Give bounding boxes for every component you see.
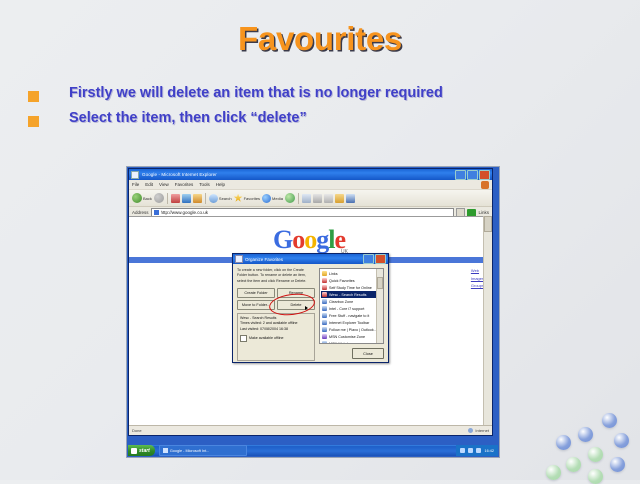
start-button[interactable]: start: [128, 445, 155, 456]
list-item-label: Wesc - Search Results: [329, 293, 366, 297]
search-icon: [209, 194, 218, 203]
browser-icon: [322, 299, 327, 304]
decorative-bubbles: [510, 405, 640, 480]
ie-brand-logo-icon: [481, 181, 489, 189]
item-info-box: Wesc - Search Results Times visited: 2 a…: [237, 313, 315, 361]
info-line-2: Last visited: 07/08/2004 16:38: [240, 327, 312, 332]
dialog-body: To create a new folder, click on the Cre…: [233, 264, 388, 348]
list-item[interactable]: Clearbox Zone: [321, 298, 376, 305]
browser-icon: [322, 320, 327, 325]
dialog-title: Organize Favorites: [245, 257, 363, 262]
page-scrollbar[interactable]: [483, 216, 492, 426]
toolbar-separator: [167, 193, 168, 204]
windows-flag-icon: [131, 448, 137, 454]
help-icon[interactable]: [363, 254, 374, 264]
create-folder-button[interactable]: Create Folder: [237, 288, 275, 298]
minimize-icon[interactable]: [455, 170, 466, 180]
globe-icon: [468, 428, 473, 433]
browser-icon: [322, 341, 327, 344]
scrollbar-thumb[interactable]: [377, 277, 383, 289]
bubble-4: [614, 433, 629, 448]
address-label: Address: [132, 210, 149, 215]
move-to-folder-button[interactable]: Move to Folder...: [237, 300, 275, 310]
page-icon: [154, 210, 159, 215]
list-item[interactable]: Self Study Time for Online: [321, 284, 376, 291]
close-button[interactable]: Close: [352, 348, 384, 359]
menu-bar: File Edit View Favorites Tools Help: [129, 180, 492, 190]
checkbox-label: Make available offline: [249, 336, 284, 341]
dialog-window-controls: [363, 254, 386, 264]
back-arrow-icon: [132, 193, 142, 203]
list-item[interactable]: Free Stuff - navigate to it: [321, 312, 376, 319]
taskbar-item-label: Google - Microsoft Int...: [170, 449, 209, 453]
status-text: Done: [132, 428, 142, 433]
start-label: start: [139, 448, 150, 454]
organize-favorites-dialog: Organize Favorites To create a new folde…: [232, 253, 389, 363]
list-item-label: Quick Favorites: [329, 279, 355, 283]
bubble-8: [546, 465, 561, 480]
back-label: Back: [143, 196, 152, 201]
favorites-label: Favorites: [244, 196, 260, 201]
bubble-7: [610, 457, 625, 472]
browser-icon: [322, 306, 327, 311]
make-available-offline-checkbox[interactable]: Make available offline: [240, 335, 312, 342]
status-zone: Internet: [475, 428, 489, 433]
menu-item-edit[interactable]: Edit: [145, 182, 153, 187]
edit-icon[interactable]: [324, 194, 333, 203]
google-logo-text: Google: [273, 225, 345, 255]
bubble-9: [588, 469, 603, 484]
list-item[interactable]: Intel - Core i7 support: [321, 305, 376, 312]
forward-arrow-icon[interactable]: [154, 193, 164, 203]
search-label: Search: [219, 196, 232, 201]
bullet-marker-icon: [28, 116, 39, 127]
favorites-list-items: Links Quick Favorites Self Study Time fo…: [320, 269, 377, 343]
rename-button[interactable]: Rename: [277, 288, 315, 298]
menu-item-view[interactable]: View: [159, 182, 169, 187]
menu-item-favorites[interactable]: Favorites: [175, 182, 194, 187]
back-button[interactable]: Back: [132, 193, 152, 203]
bullet-list: Firstly we will delete an item that is n…: [28, 85, 628, 135]
media-label: Media: [272, 196, 283, 201]
browser-icon: [322, 292, 327, 297]
list-item[interactable]: Quick Favorites: [321, 277, 376, 284]
browser-icon: [322, 334, 327, 339]
embedded-screenshot: Google - Microsoft Internet Explorer Fil…: [127, 167, 499, 457]
media-icon: [262, 194, 271, 203]
browser-toolbar: Back Search Favorites Media: [129, 190, 492, 207]
status-zone-area: Internet: [468, 428, 489, 433]
window-controls: [455, 170, 490, 180]
folder-icon: [322, 271, 327, 276]
list-item: Firstly we will delete an item that is n…: [28, 85, 628, 102]
browser-icon: [322, 278, 327, 283]
history-icon[interactable]: [285, 193, 295, 203]
checkbox-icon: [240, 335, 247, 342]
bubble-5: [588, 447, 603, 462]
list-item: Select the item, then click “delete”: [28, 110, 628, 127]
menu-item-file[interactable]: File: [132, 182, 139, 187]
address-value: http://www.google.co.uk: [161, 210, 209, 215]
mouse-cursor-icon: [305, 306, 308, 310]
browser-icon: [322, 313, 327, 318]
page-title: Favourites: [0, 20, 640, 58]
favorites-button[interactable]: Favorites: [234, 194, 260, 203]
menu-item-help[interactable]: Help: [216, 182, 225, 187]
network-icon[interactable]: [460, 448, 465, 453]
list-item[interactable]: MSN Web Images: [321, 340, 376, 344]
list-item[interactable]: Internet Explorer Toolbar: [321, 319, 376, 326]
taskbar-item[interactable]: Google - Microsoft Int...: [159, 445, 247, 456]
dialog-title-bar: Organize Favorites: [233, 254, 388, 264]
list-item-label: Internet Explorer Toolbar: [329, 321, 369, 325]
favorites-list[interactable]: Links Quick Favorites Self Study Time fo…: [319, 268, 384, 344]
dialog-action-buttons: Create Folder Rename Move to Folder... D…: [237, 288, 315, 310]
google-logo: GoogleUK: [129, 225, 492, 255]
star-icon: [234, 194, 243, 203]
stop-icon[interactable]: [171, 194, 180, 203]
list-item-label: Self Study Time for Online: [329, 286, 372, 290]
print-icon[interactable]: [313, 194, 322, 203]
window-title: Google - Microsoft Internet Explorer: [142, 172, 455, 177]
ie-logo-icon: [131, 171, 139, 179]
media-button[interactable]: Media: [262, 194, 283, 203]
close-icon[interactable]: [479, 170, 490, 180]
favorites-scrollbar[interactable]: [376, 269, 383, 343]
maximize-icon[interactable]: [467, 170, 478, 180]
bubble-1: [602, 413, 617, 428]
bullet-text: Select the item, then click “delete”: [69, 110, 307, 127]
window-title-bar: Google - Microsoft Internet Explorer: [129, 169, 492, 180]
browser-icon: [322, 327, 327, 332]
dialog-description: To create a new folder, click on the Cre…: [237, 268, 315, 284]
scrollbar-thumb[interactable]: [484, 216, 492, 232]
list-item-selected[interactable]: Wesc - Search Results: [321, 291, 376, 298]
status-bar: Done Internet: [129, 425, 492, 435]
bubble-6: [566, 457, 581, 472]
delete-button[interactable]: Delete: [277, 300, 315, 310]
volume-icon[interactable]: [468, 448, 473, 453]
mail-icon[interactable]: [302, 194, 311, 203]
list-item-label: Clearbox Zone: [329, 300, 353, 304]
system-tray: 16:42: [456, 445, 498, 456]
bubble-2: [578, 427, 593, 442]
windows-taskbar: start Google - Microsoft Int... 16:42: [128, 445, 498, 456]
dialog-left-pane: To create a new folder, click on the Cre…: [237, 268, 315, 344]
ie-logo-icon: [163, 448, 168, 453]
links-label[interactable]: Links: [478, 210, 489, 215]
home-icon[interactable]: [193, 194, 202, 203]
list-item-label: MSN Web Images: [329, 342, 359, 345]
refresh-icon[interactable]: [182, 194, 191, 203]
list-item-label: MSN Customise Zone: [329, 335, 365, 339]
bubble-3: [556, 435, 571, 450]
search-button[interactable]: Search: [209, 194, 232, 203]
toolbar-separator: [298, 193, 299, 204]
dialog-icon: [235, 255, 243, 263]
list-item-label: Links: [329, 272, 338, 276]
dialog-footer: Close: [352, 348, 384, 359]
tray-time: 16:42: [484, 449, 494, 453]
menu-item-tools[interactable]: Tools: [199, 182, 210, 187]
list-item[interactable]: Follow me | Plaxo | Outlook...: [321, 326, 376, 333]
list-item[interactable]: Links: [321, 270, 376, 277]
browser-icon: [322, 285, 327, 290]
bullet-text: Firstly we will delete an item that is n…: [69, 85, 443, 102]
list-item-label: Free Stuff - navigate to it: [329, 314, 369, 318]
list-item-label: Intel - Core i7 support: [329, 307, 364, 311]
shield-icon[interactable]: [476, 448, 481, 453]
list-item[interactable]: MSN Customise Zone: [321, 333, 376, 340]
discuss-icon[interactable]: [335, 194, 344, 203]
dialog-close-icon[interactable]: [375, 254, 386, 264]
messenger-icon[interactable]: [346, 194, 355, 203]
bullet-marker-icon: [28, 91, 39, 102]
toolbar-separator: [205, 193, 206, 204]
list-item-label: Follow me | Plaxo | Outlook...: [329, 328, 377, 332]
